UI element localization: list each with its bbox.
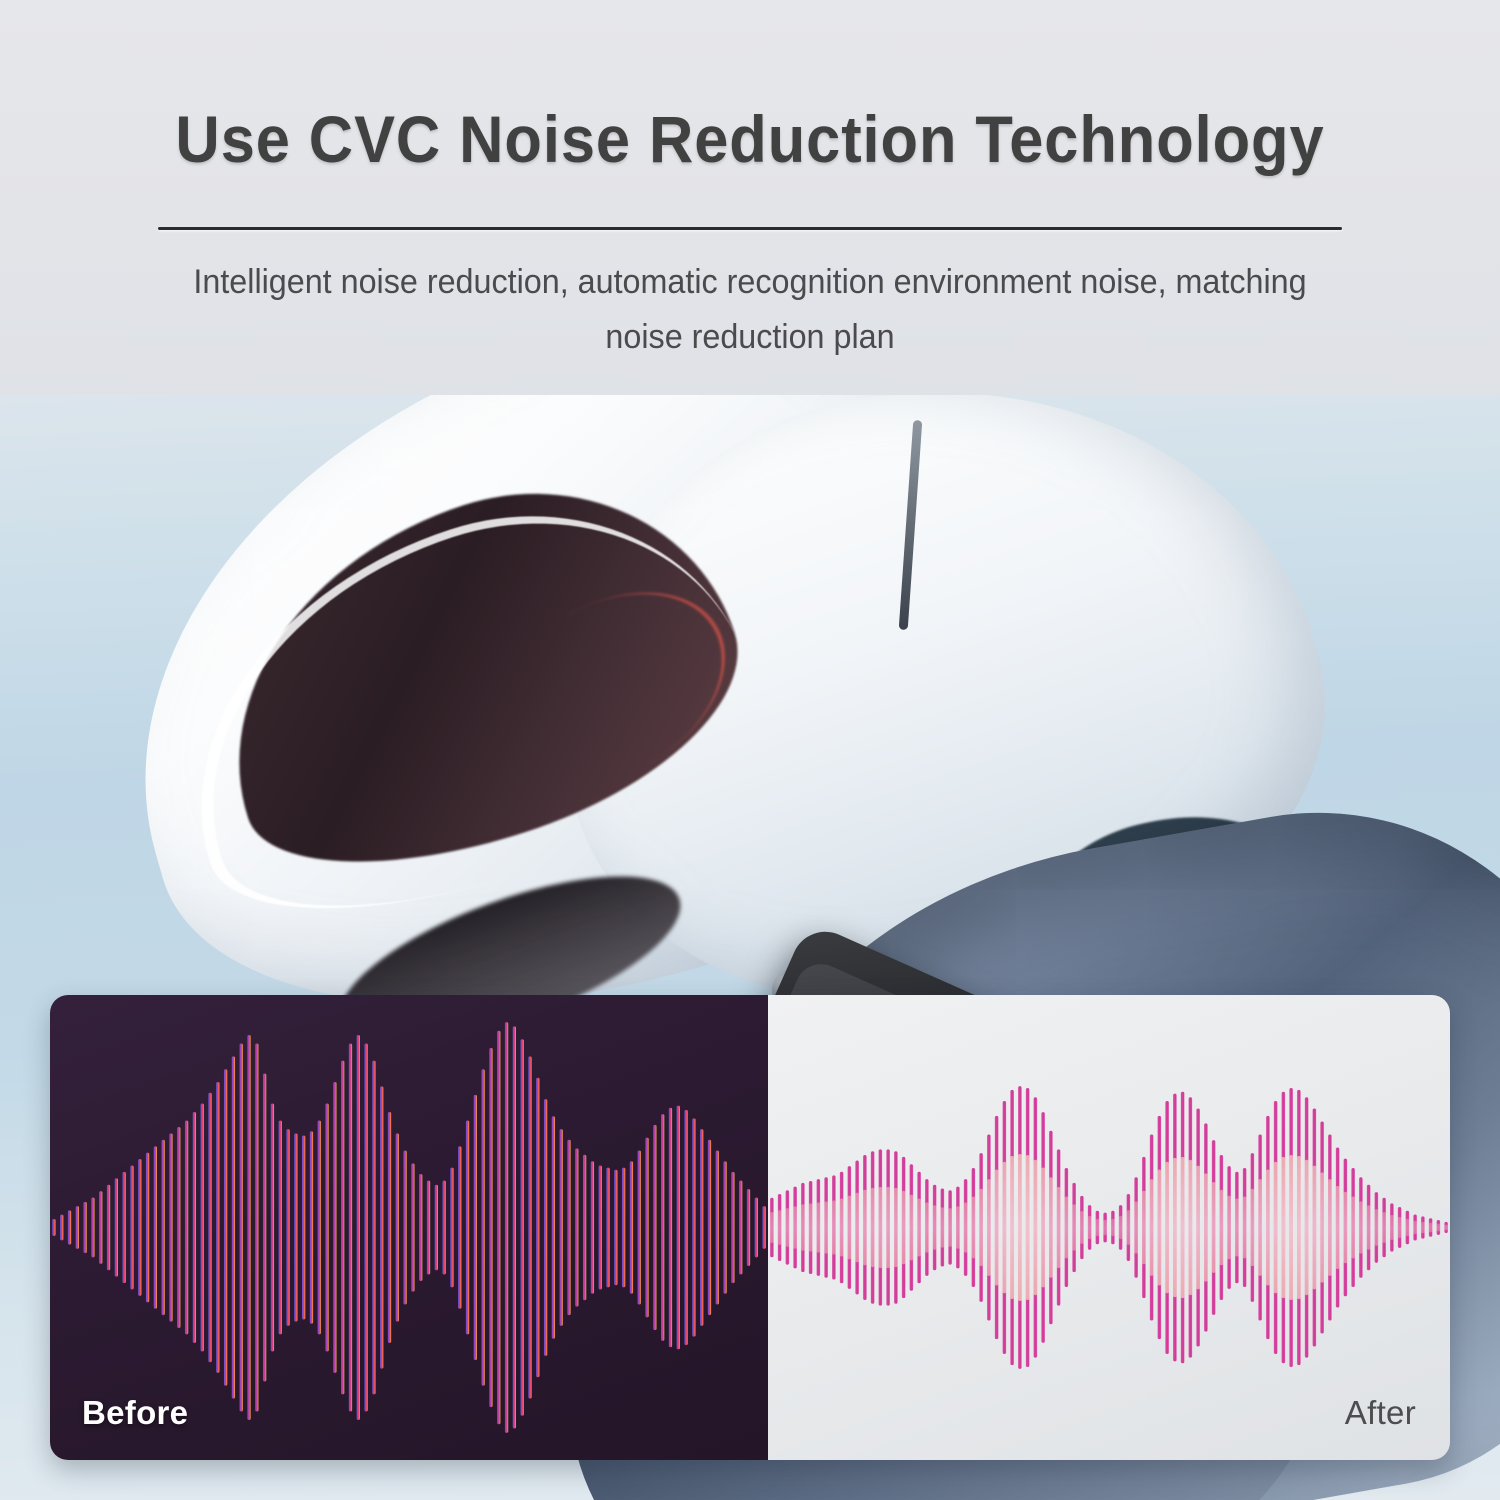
after-pane: After [768, 995, 1450, 1460]
before-label: Before [82, 1394, 188, 1432]
after-waveform-chart [768, 995, 1450, 1460]
title-divider [158, 227, 1342, 230]
page-subtitle: Intelligent noise reduction, automatic r… [180, 255, 1320, 365]
after-label: After [1345, 1394, 1416, 1432]
header-band: Use CVC Noise Reduction Technology Intel… [0, 0, 1500, 395]
before-pane: Before [50, 995, 768, 1460]
page-title: Use CVC Noise Reduction Technology [53, 104, 1448, 174]
before-waveform-svg [50, 995, 768, 1460]
before-after-comparison: Before [50, 995, 1450, 1460]
product-infographic: Use CVC Noise Reduction Technology Intel… [0, 0, 1500, 1500]
before-waveform-chart [50, 995, 768, 1460]
after-waveform-svg [768, 995, 1450, 1460]
